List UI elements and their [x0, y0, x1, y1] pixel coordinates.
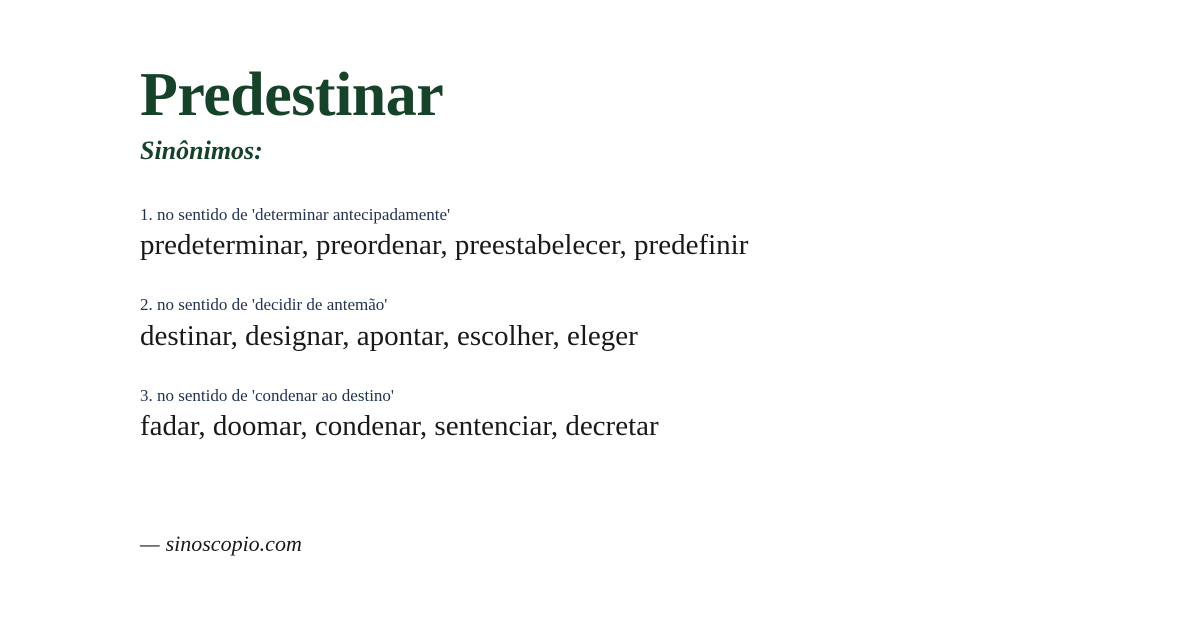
sense-synonyms: destinar, designar, apontar, escolher, e… [140, 316, 1140, 354]
sense-entry-3: 3. no sentido de 'condenar ao destino' f… [140, 385, 1140, 445]
sense-entry-1: 1. no sentido de 'determinar antecipadam… [140, 204, 1140, 264]
sense-label: 3. no sentido de 'condenar ao destino' [140, 385, 1140, 406]
sense-label: 2. no sentido de 'decidir de antemão' [140, 294, 1140, 315]
sense-label: 1. no sentido de 'determinar antecipadam… [140, 204, 1140, 225]
attribution: —sinoscopio.com [140, 531, 302, 557]
sense-synonyms: predeterminar, preordenar, preestabelece… [140, 225, 1140, 263]
sense-entry-2: 2. no sentido de 'decidir de antemão' de… [140, 294, 1140, 354]
sense-synonyms: fadar, doomar, condenar, sentenciar, dec… [140, 406, 1140, 444]
synonym-card: Predestinar Sinônimos: 1. no sentido de … [0, 0, 1200, 628]
synonyms-subtitle: Sinônimos: [140, 129, 1140, 166]
em-dash: — [140, 531, 160, 556]
sense-list: 1. no sentido de 'determinar antecipadam… [140, 166, 1140, 445]
attribution-source: sinoscopio.com [166, 531, 302, 556]
page-title: Predestinar [140, 0, 1140, 129]
